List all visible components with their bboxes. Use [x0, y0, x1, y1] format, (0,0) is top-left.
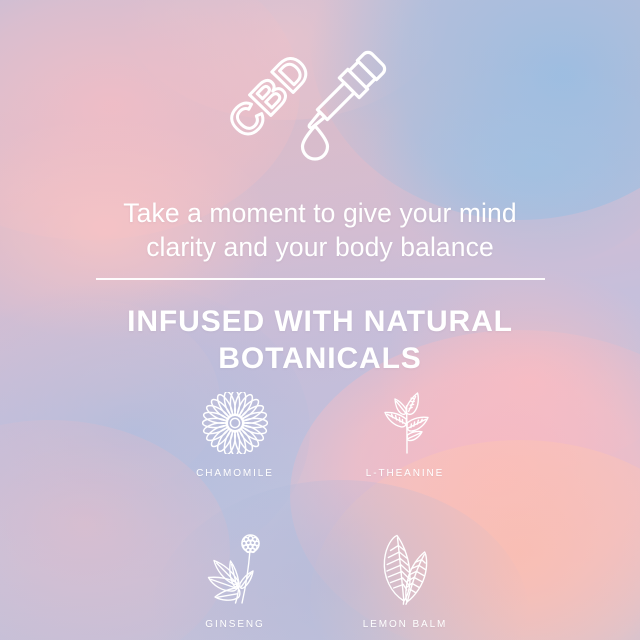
ingredients-row-2: GINSENG — [150, 533, 490, 630]
ginseng-berry-cluster-plant-icon — [199, 533, 271, 605]
ingredient-label: L-THEANINE — [366, 468, 444, 479]
logo-graphic: CBD — [225, 44, 415, 166]
logo-text-cbd: CBD — [225, 45, 321, 148]
headline-line-1: INFUSED WITH NATURAL — [60, 304, 580, 341]
ingredients-grid: CHAMOMILE — [150, 392, 490, 630]
logo-text: CBD — [225, 45, 321, 148]
headline: INFUSED WITH NATURAL BOTANICALS — [60, 304, 580, 377]
ingredient-label: GINSENG — [205, 619, 264, 630]
ingredient-lemon-balm: LEMON BALM — [320, 533, 490, 630]
tagline-line-2: clarity and your body balance — [70, 230, 570, 264]
tea-leaf-sprig-icon — [370, 392, 440, 454]
divider-rule — [96, 278, 545, 280]
lemon-balm-mint-leaves-icon — [369, 533, 441, 605]
ingredient-ginseng: GINSENG — [150, 533, 320, 630]
ingredient-label: LEMON BALM — [363, 619, 448, 630]
ingredients-row-1: CHAMOMILE — [150, 392, 490, 479]
tagline-line-1: Take a moment to give your mind — [70, 196, 570, 230]
ingredient-chamomile: CHAMOMILE — [150, 392, 320, 479]
cbd-wellness-poster: CBD Take a moment to give your mind clar… — [0, 0, 640, 640]
chamomile-daisy-flower-icon — [202, 392, 268, 454]
headline-line-2: BOTANICALS — [60, 341, 580, 378]
brand-logo: CBD — [0, 44, 640, 174]
ingredient-label: CHAMOMILE — [196, 468, 274, 479]
tagline: Take a moment to give your mind clarity … — [70, 196, 570, 265]
ingredient-l-theanine: L-THEANINE — [320, 392, 490, 479]
